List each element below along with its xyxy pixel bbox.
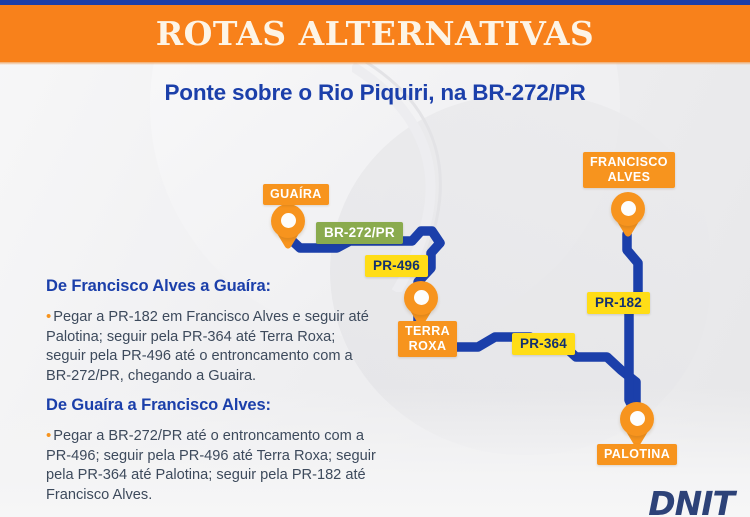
marker-palotina[interactable] (620, 402, 654, 446)
bullet-icon: • (46, 427, 51, 444)
section-body-text: Pegar a PR-182 em Francisco Alves e segu… (46, 309, 369, 384)
road-badge-pr496[interactable]: PR-496 (365, 255, 428, 277)
place-label-palotina: PALOTINA (597, 444, 677, 465)
dnit-logo: DNIT (648, 484, 734, 517)
route-section-francisco-alves-to-guaira: De Francisco Alves a Guaíra: •Pegar a PR… (46, 277, 376, 386)
road-badge-pr182[interactable]: PR-182 (587, 292, 650, 314)
road-badge-br272-pr[interactable]: BR-272/PR (316, 222, 403, 244)
page-subtitle: Ponte sobre o Rio Piquiri, na BR-272/PR (0, 80, 750, 106)
pin-center-dot-icon (281, 213, 296, 228)
page-title: ROTAS ALTERNATIVAS (0, 5, 750, 62)
place-label-terra-roxa: TERRA ROXA (398, 321, 457, 357)
section-body-text: Pegar a BR-272/PR até o entroncamento co… (46, 428, 376, 503)
marker-francisco-alves[interactable] (611, 192, 645, 236)
marker-terra-roxa[interactable] (404, 281, 438, 325)
section-body: •Pegar a BR-272/PR até o entroncamento c… (46, 426, 376, 505)
section-body: •Pegar a PR-182 em Francisco Alves e seg… (46, 307, 376, 386)
pin-center-dot-icon (621, 201, 636, 216)
section-heading: De Francisco Alves a Guaíra: (46, 277, 376, 296)
pin-center-dot-icon (414, 290, 429, 305)
infographic-root: ROTAS ALTERNATIVAS Ponte sobre o Rio Piq… (0, 0, 750, 517)
route-section-guaira-to-francisco-alves: De Guaíra a Francisco Alves: •Pegar a BR… (46, 396, 376, 505)
place-label-guaira: GUAÍRA (263, 184, 329, 205)
section-heading: De Guaíra a Francisco Alves: (46, 396, 376, 415)
header-edge-shadow (0, 62, 750, 65)
marker-guaira[interactable] (271, 204, 305, 248)
bullet-icon: • (46, 308, 51, 325)
place-label-francisco-alves: FRANCISCO ALVES (583, 152, 675, 188)
road-badge-pr364[interactable]: PR-364 (512, 333, 575, 355)
pin-center-dot-icon (630, 411, 645, 426)
